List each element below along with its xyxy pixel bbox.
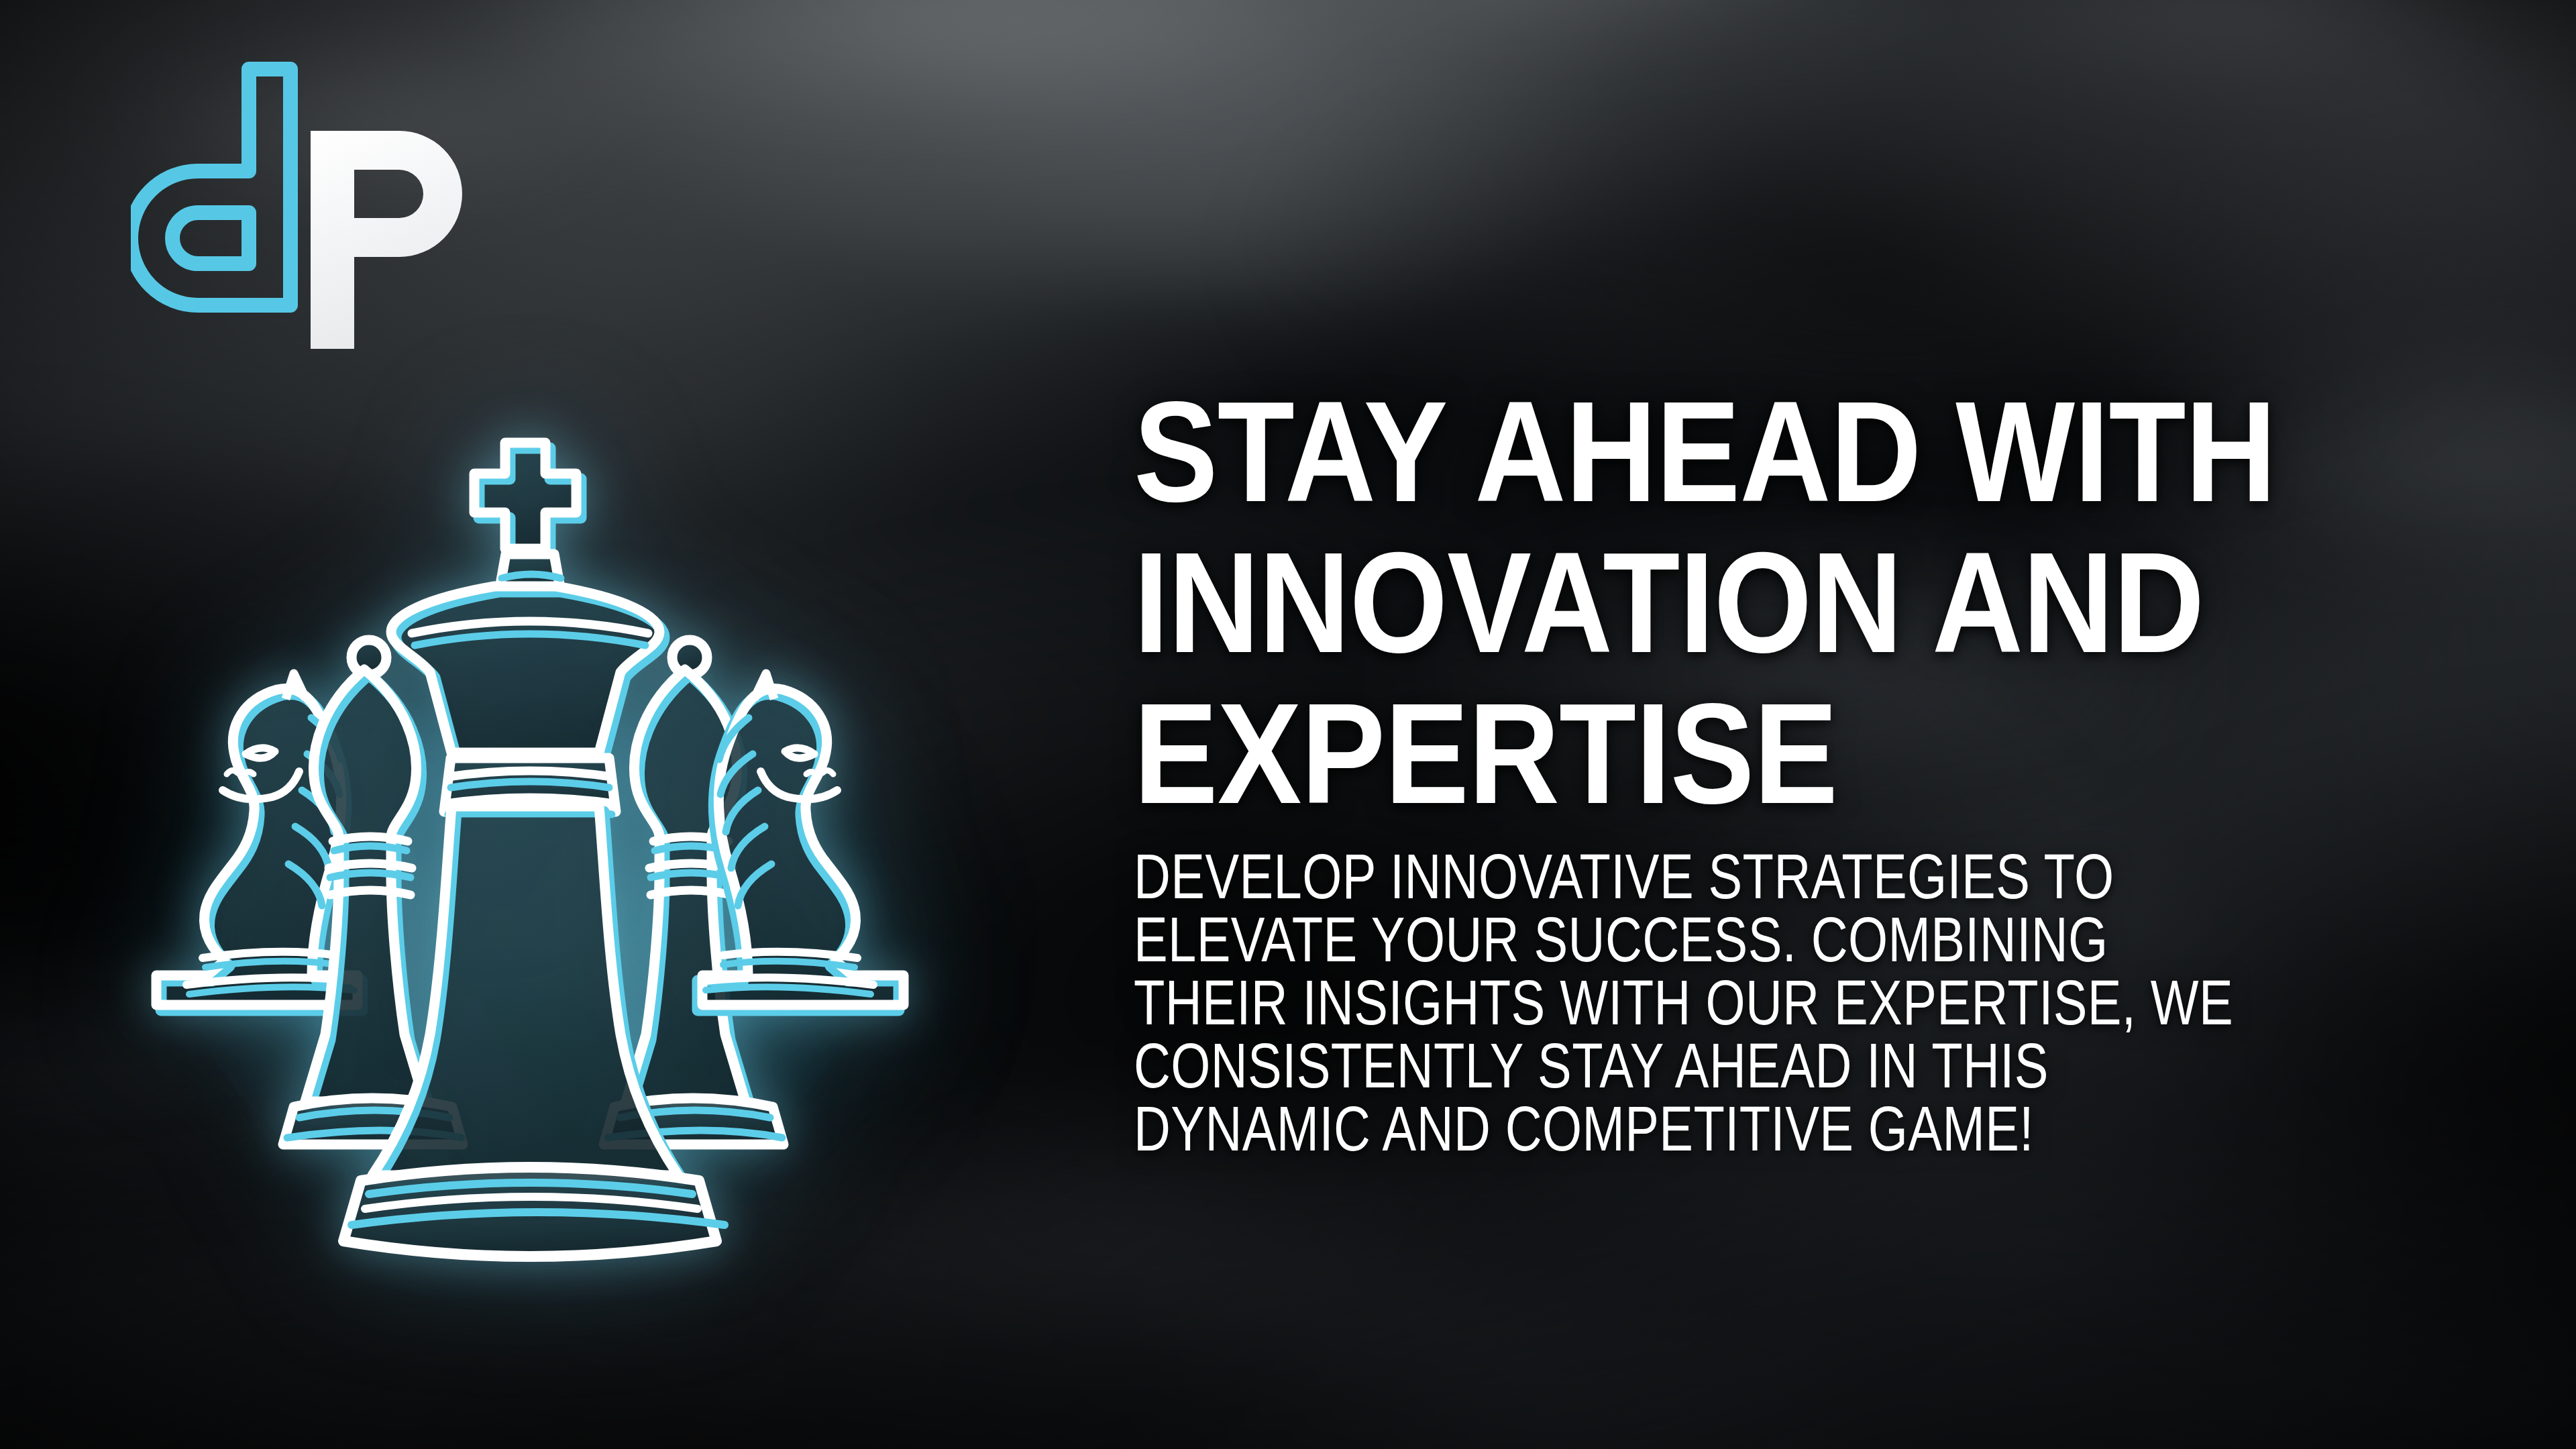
body-line-3: THEIR INSIGHTS WITH OUR EXPERTISE, WE <box>1134 971 2212 1034</box>
headline: STAY AHEAD WITH INNOVATION AND EXPERTISE <box>1134 376 2320 828</box>
copy-block: STAY AHEAD WITH INNOVATION AND EXPERTISE… <box>1134 376 2482 1160</box>
body-line-1: DEVELOP INNOVATIVE STRATEGIES TO <box>1134 845 2212 908</box>
brand-logo[interactable] <box>131 37 480 352</box>
body-line-4: CONSISTENTLY STAY AHEAD IN THIS <box>1134 1034 2212 1097</box>
logo-letter-d <box>131 69 290 305</box>
banner-stage: STAY AHEAD WITH INNOVATION AND EXPERTISE… <box>0 0 2576 1449</box>
headline-line-2: INNOVATION AND <box>1134 527 2320 678</box>
logo-letter-p <box>311 131 462 349</box>
headline-line-1: STAY AHEAD WITH <box>1134 376 2320 527</box>
body-line-5: DYNAMIC AND COMPETITIVE GAME! <box>1134 1097 2212 1160</box>
headline-line-3: EXPERTISE <box>1134 678 2320 828</box>
chess-pieces-illustration <box>80 436 979 1301</box>
body-paragraph: DEVELOP INNOVATIVE STRATEGIES TO ELEVATE… <box>1134 845 2212 1160</box>
body-line-2: ELEVATE YOUR SUCCESS. COMBINING <box>1134 908 2212 971</box>
